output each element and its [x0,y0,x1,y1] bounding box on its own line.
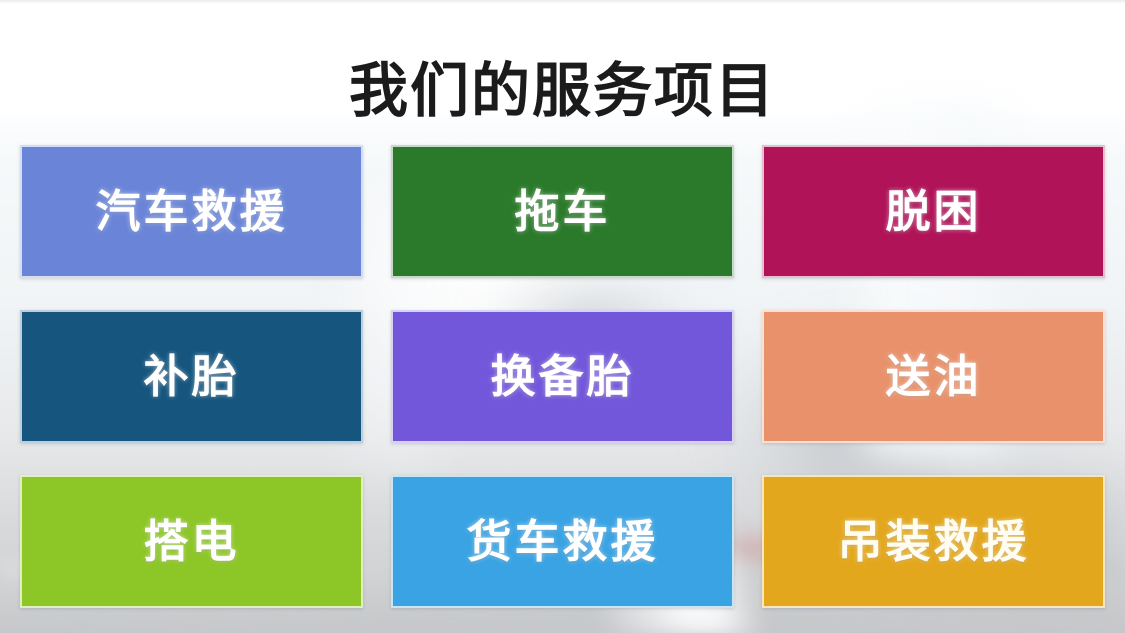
service-tile-label: 货车救援 [466,519,658,564]
service-tile-truck-rescue[interactable]: 货车救援 [391,475,734,608]
service-tile-label: 换备胎 [490,354,634,399]
service-tile-hoisting-rescue[interactable]: 吊装救援 [762,475,1105,608]
service-tile-tire-repair[interactable]: 补胎 [20,310,363,443]
service-tile-label: 补胎 [143,354,239,399]
service-tile-car-rescue[interactable]: 汽车救援 [20,145,363,278]
service-tile-towing[interactable]: 拖车 [391,145,734,278]
service-tile-spare-tire-change[interactable]: 换备胎 [391,310,734,443]
service-tile-fuel-delivery[interactable]: 送油 [762,310,1105,443]
service-tile-label: 吊装救援 [837,519,1029,564]
content-layer: 我们的服务项目 汽车救援 拖车 脱困 补胎 换备胎 送油 搭电 [0,0,1125,633]
service-tile-label: 搭电 [143,519,239,564]
service-tile-extrication[interactable]: 脱困 [762,145,1105,278]
service-tile-label: 脱困 [885,189,981,234]
page-title: 我们的服务项目 [0,61,1125,120]
service-tile-label: 汽车救援 [95,189,287,234]
service-menu-page: 我们的服务项目 汽车救援 拖车 脱困 补胎 换备胎 送油 搭电 [0,0,1125,633]
service-tile-jump-start[interactable]: 搭电 [20,475,363,608]
service-tile-label: 拖车 [514,189,610,234]
service-tile-grid: 汽车救援 拖车 脱困 补胎 换备胎 送油 搭电 货车救援 [20,145,1105,610]
service-tile-label: 送油 [885,354,981,399]
